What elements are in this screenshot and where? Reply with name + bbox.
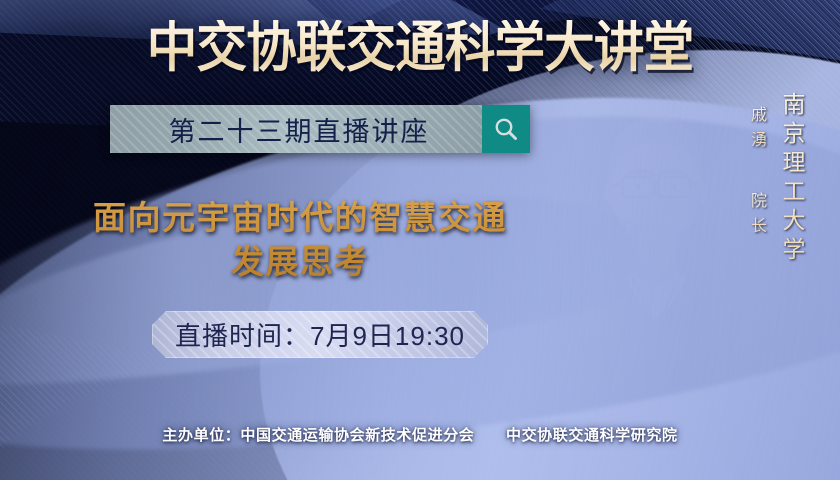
episode-banner-fill: 第二十三期直播讲座	[110, 105, 482, 153]
schedule-badge: 直播时间：7月9日19:30	[152, 311, 488, 358]
organizer-footer: 主办单位：中国交通运输协会新技术促进分会 中交协联交通科学研究院	[0, 424, 840, 445]
lecture-headline: 面向元宇宙时代的智慧交通 发展思考	[46, 196, 554, 284]
organizer-institute: 中交协联交通科学研究院	[506, 427, 678, 444]
page-title: 中交协联交通科学大讲堂	[34, 20, 807, 75]
speaker-name: 戚湧	[744, 106, 768, 156]
organizer-primary: 主办单位：中国交通运输协会新技术促进分会	[162, 427, 474, 444]
lecture-headline-line-1: 面向元宇宙时代的智慧交通	[46, 196, 554, 240]
speaker-university: 南京理工大学	[775, 92, 809, 266]
schedule-label: 直播时间：7月9日19:30	[175, 316, 465, 353]
episode-banner: 第二十三期直播讲座	[110, 105, 530, 153]
webinar-poster: 中交协联交通科学大讲堂 第二十三期直播讲座 面向元宇宙时代的智慧交通 发展思考 …	[0, 0, 840, 480]
episode-label: 第二十三期直播讲座	[163, 110, 430, 149]
search-button[interactable]	[482, 105, 530, 153]
speaker-role: 院长	[744, 192, 768, 242]
search-icon	[493, 116, 519, 142]
lecture-headline-line-2: 发展思考	[46, 240, 554, 284]
